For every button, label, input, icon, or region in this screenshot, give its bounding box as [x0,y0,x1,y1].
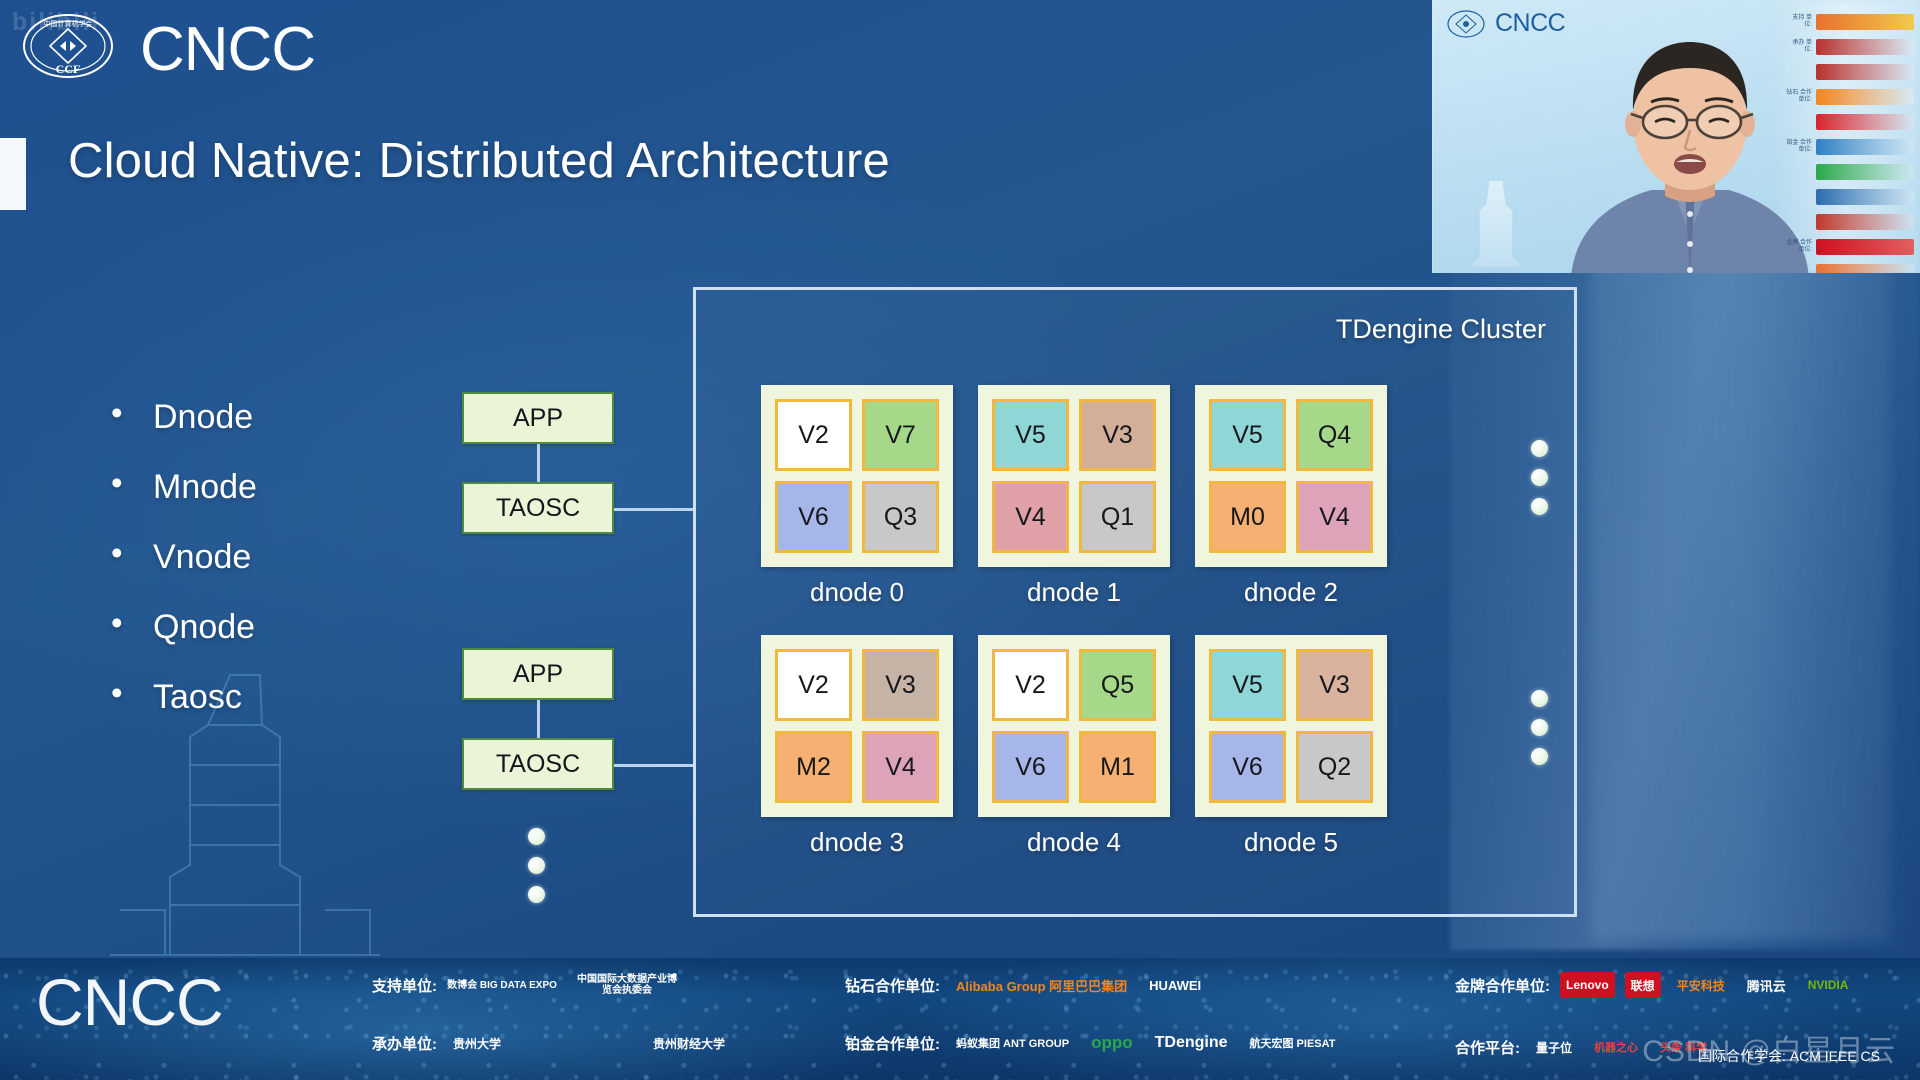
mnode-cell: M0 [1209,481,1286,553]
footer-logo: 机器之心 [1588,1034,1644,1060]
webcam-sponsor-row: 承办 单位: [1786,37,1914,57]
webcam-sponsor-row [1786,212,1914,232]
cncc-brand: CNCC [140,14,315,85]
list-item: Vnode [105,538,257,577]
footer-row-label: 钻石合作单位: [845,975,940,996]
dot [1531,690,1548,707]
footer-row-diamond: 钻石合作单位: Alibaba Group 阿里巴巴集团 HUAWEI [845,972,1207,998]
dnode-card: V2 Q5 V6 M1 dnode 4 [978,635,1170,858]
webcam-sponsor-logo [1816,139,1914,155]
list-item: Dnode [105,398,257,437]
cell-label: V5 [1232,421,1263,450]
cell-label: M2 [796,753,831,782]
client-more-dots [528,828,545,903]
mnode-cell: M2 [775,731,852,803]
cell-label: V4 [1015,503,1046,532]
dot [528,828,545,845]
footer-logo: 贵州财经大学 [647,1030,731,1056]
webcam-sponsor-label: 承办 单位: [1786,40,1812,54]
qnode-cell: Q4 [1296,399,1373,471]
footer-logo: HUAWEI [1143,972,1207,998]
qnode-cell: Q2 [1296,731,1373,803]
ccf-logo-icon: CCF 中国计算机学会 [22,13,114,79]
cell-label: M0 [1230,503,1265,532]
taosc-cluster-connector-2 [614,764,694,767]
tdengine-cluster-panel: TDengine Cluster V2 V7 V6 Q3 dnode 0 V5 … [693,287,1577,917]
dot [1531,748,1548,765]
dnode-label: dnode 5 [1195,827,1387,858]
footer-row-platform: 合作平台: 量子位 机器之心 头条 科学 [1455,1034,1713,1060]
slide-stage: bilibili CCF 中国计算机学会 CNCC Cloud Native: … [0,0,1920,1080]
cell-label: V3 [885,671,916,700]
webcam-sponsor-label: 钻石 合作单位: [1786,90,1812,104]
qnode-cell: Q1 [1079,481,1156,553]
dot [1531,719,1548,736]
footer-row-support: 支持单位: 数博会 BIG DATA EXPO 中国国际大数据产业博览会执委会 [372,972,687,998]
dnode-grid: V5 V3 V4 Q1 [978,385,1170,567]
footer-row-organizer: 承办单位: 贵州大学 贵州财经大学 [372,1030,731,1056]
bullet-label: Taosc [153,678,242,716]
cell-label: V2 [1015,671,1046,700]
dnode-card: V5 V3 V6 Q2 dnode 5 [1195,635,1387,858]
cluster-title: TDengine Cluster [1336,314,1546,345]
app-box-2: APP [462,648,614,700]
list-item: Taosc [105,678,257,717]
vnode-cell: V5 [1209,649,1286,721]
footer-logo: 贵州大学 [447,1030,507,1056]
dnode-row2-more-dots [1531,690,1548,765]
webcam-sponsor-row [1786,187,1914,207]
dnode-card: V2 V3 M2 V4 dnode 3 [761,635,953,858]
vnode-cell: V4 [862,731,939,803]
footer-logo: oppo [1085,1030,1139,1056]
dot [1531,469,1548,486]
webcam-sponsor-logo [1816,39,1914,55]
webcam-sponsor-logo [1816,14,1914,30]
dnode-row1-more-dots [1531,440,1548,515]
vnode-cell: V2 [775,649,852,721]
dnode-grid: V2 V3 M2 V4 [761,635,953,817]
cell-label: V3 [1319,671,1350,700]
cell-label: Q5 [1101,671,1134,700]
webcam-sponsor-logo [1816,64,1914,80]
cell-label: V4 [885,753,916,782]
taosc-cluster-connector-1 [614,508,694,511]
dnode-grid: V2 Q5 V6 M1 [978,635,1170,817]
concept-bullet-list: Dnode Mnode Vnode Qnode Taosc [105,398,257,748]
waterfall-decoration-2 [1590,240,1890,940]
cell-label: V3 [1102,421,1133,450]
webcam-sponsor-logo [1816,164,1914,180]
dnode-grid: V2 V7 V6 Q3 [761,385,953,567]
page-title: Cloud Native: Distributed Architecture [68,133,890,189]
dnode-grid: V5 Q4 M0 V4 [1195,385,1387,567]
vnode-cell: V3 [862,649,939,721]
dot [528,886,545,903]
cell-label: V6 [798,503,829,532]
bullet-label: Vnode [153,538,251,576]
taosc-label: TAOSC [496,750,580,779]
speaker-webcam-overlay[interactable]: CNCC [1432,0,1920,273]
vnode-cell: V5 [992,399,1069,471]
dnode-label: dnode 2 [1195,577,1387,608]
footer-logo: 中国国际大数据产业博览会执委会 [567,972,687,998]
dnode-card: V5 Q4 M0 V4 dnode 2 [1195,385,1387,608]
speaker-avatar [1561,38,1819,273]
bullet-label: Qnode [153,608,255,646]
taosc-label: TAOSC [496,494,580,523]
footer-row-label: 铂金合作单位: [845,1033,940,1054]
dnode-label: dnode 0 [761,577,953,608]
footer-row-label: 支持单位: [372,975,437,996]
svg-text:CCF: CCF [56,62,81,76]
vnode-cell: V3 [1079,399,1156,471]
webcam-sponsor-logo [1816,264,1914,273]
footer-row-label: 承办单位: [372,1033,437,1054]
webcam-ccf-logo-icon [1447,10,1485,38]
app-label: APP [513,660,563,689]
vnode-cell: V2 [992,649,1069,721]
cell-label: Q1 [1101,503,1134,532]
cell-label: V2 [798,421,829,450]
webcam-sponsor-row: 支持 单位: [1786,12,1914,32]
sponsor-footer-banner: CNCC 支持单位: 数博会 BIG DATA EXPO 中国国际大数据产业博览… [0,958,1920,1080]
cell-label: V2 [798,671,829,700]
vnode-cell: V6 [992,731,1069,803]
dnode-card: V5 V3 V4 Q1 dnode 1 [978,385,1170,608]
vnode-cell: V3 [1296,649,1373,721]
dnode-grid: V5 V3 V6 Q2 [1195,635,1387,817]
cell-label: V5 [1015,421,1046,450]
qnode-cell: Q5 [1079,649,1156,721]
footer-row-label: 金牌合作单位: [1455,975,1550,996]
webcam-sponsor-row: 金牌 合作单位: [1786,237,1914,257]
taosc-box-2: TAOSC [462,738,614,790]
footer-logo: 腾讯云 [1741,972,1792,998]
svg-text:中国计算机学会: 中国计算机学会 [44,19,93,28]
cell-label: M1 [1100,753,1135,782]
mnode-cell: M1 [1079,731,1156,803]
vnode-cell: V5 [1209,399,1286,471]
cell-label: V6 [1015,753,1046,782]
bullet-label: Mnode [153,468,257,506]
vnode-cell: V4 [1296,481,1373,553]
footer-logo: Lenovo [1560,972,1615,998]
footer-row-platinum: 铂金合作单位: 蚂蚁集团 ANT GROUP oppo TDengine 航天宏… [845,1030,1341,1056]
webcam-sponsor-row [1786,112,1914,132]
footer-row-gold: 金牌合作单位: Lenovo 联想 平安科技 腾讯云 NVIDIA [1455,972,1854,998]
bullet-label: Dnode [153,398,253,436]
cell-label: V7 [885,421,916,450]
dnode-label: dnode 1 [978,577,1170,608]
dnode-label: dnode 3 [761,827,953,858]
webcam-sponsor-label: 金牌 合作单位: [1786,240,1812,254]
webcam-sponsor-logo [1816,239,1914,255]
footer-logo: 数博会 BIG DATA EXPO [447,972,557,998]
vnode-cell: V7 [862,399,939,471]
taosc-box-1: TAOSC [462,482,614,534]
footer-logo: 量子位 [1530,1034,1578,1060]
dnode-label: dnode 4 [978,827,1170,858]
webcam-tower-decoration [1469,181,1523,267]
webcam-sponsor-row [1786,162,1914,182]
footer-logo: 联想 [1625,972,1661,998]
list-item: Qnode [105,608,257,647]
vnode-cell: V6 [775,481,852,553]
webcam-sponsor-label: 支持 单位: [1786,15,1812,29]
footer-logo: 蚂蚁集团 ANT GROUP [950,1030,1075,1056]
cell-label: V4 [1319,503,1350,532]
footer-logo: 平安科技 [1671,972,1731,998]
dot [1531,498,1548,515]
webcam-sponsor-row [1786,62,1914,82]
webcam-sponsor-logo [1816,114,1914,130]
webcam-sponsor-row [1786,262,1914,273]
qnode-cell: Q3 [862,481,939,553]
webcam-sponsor-label: 铂金 合作单位: [1786,140,1812,154]
cell-label: Q2 [1318,753,1351,782]
dnode-card: V2 V7 V6 Q3 dnode 0 [761,385,953,608]
vnode-cell: V2 [775,399,852,471]
title-accent-bar [0,138,26,210]
webcam-cncc-brand: CNCC [1495,9,1565,38]
dot [1531,440,1548,457]
webcam-sponsor-logo [1816,89,1914,105]
app-label: APP [513,404,563,433]
webcam-sponsor-strip: 支持 单位: 承办 单位: 钻石 合作单位: 铂金 合作单位: [1786,12,1914,273]
webcam-sponsor-logo [1816,214,1914,230]
footer-cncc-brand: CNCC [36,964,223,1040]
webcam-sponsor-row: 钻石 合作单位: [1786,87,1914,107]
international-societies-label: 国际合作学会: ACM IEEE CS [1698,1046,1880,1066]
cell-label: V5 [1232,671,1263,700]
webcam-sponsor-logo [1816,189,1914,205]
vnode-cell: V6 [1209,731,1286,803]
list-item: Mnode [105,468,257,507]
cell-label: Q4 [1318,421,1351,450]
app-taosc-connector-1 [537,444,540,482]
webcam-sponsor-row: 铂金 合作单位: [1786,137,1914,157]
footer-logo: 航天宏图 PIESAT [1244,1030,1342,1056]
footer-logo: NVIDIA [1802,972,1855,998]
app-box-1: APP [462,392,614,444]
footer-logo: Alibaba Group 阿里巴巴集团 [950,972,1133,998]
footer-logo: TDengine [1149,1030,1234,1056]
cell-label: V6 [1232,753,1263,782]
footer-row-label: 合作平台: [1455,1037,1520,1058]
vnode-cell: V4 [992,481,1069,553]
dot [528,857,545,874]
cell-label: Q3 [884,503,917,532]
app-taosc-connector-2 [537,700,540,738]
